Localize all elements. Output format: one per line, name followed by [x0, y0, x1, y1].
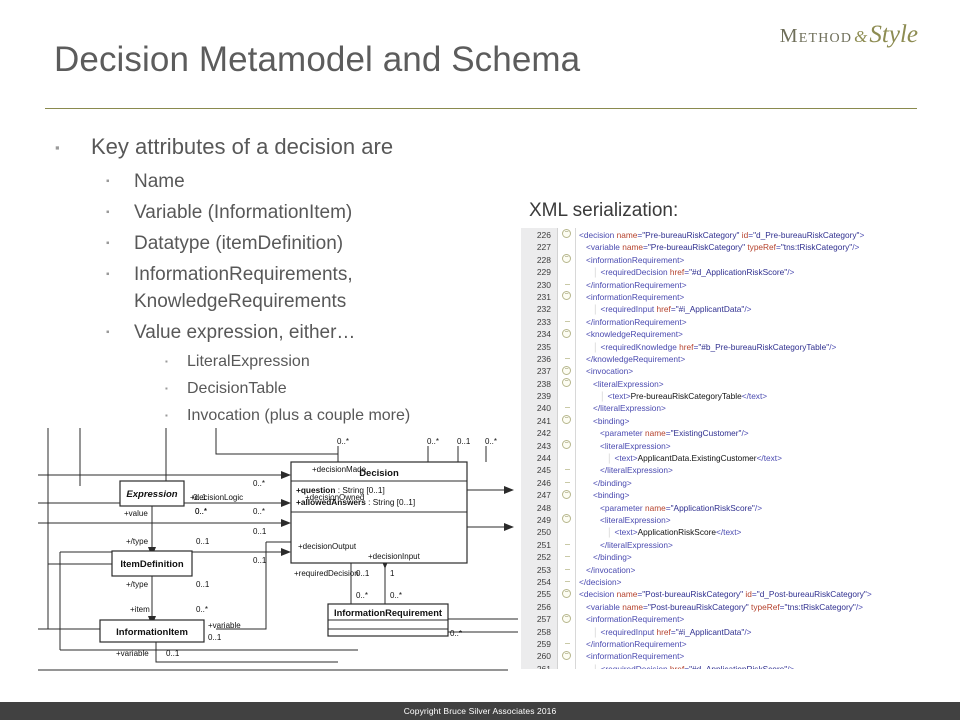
xml-code-text: <literalExpression>	[579, 514, 671, 526]
xml-code-line: 254</decision>	[521, 576, 960, 588]
indent-guide-icon: │	[593, 342, 601, 352]
xml-code-text: │ <requiredDecision href="#d_Application…	[579, 663, 794, 669]
svg-text:+decisionOutput: +decisionOutput	[298, 542, 357, 551]
xml-token-at: name	[622, 242, 643, 252]
xml-token-tg: <requiredDecision	[601, 664, 670, 669]
logo-style-word: Style	[869, 21, 918, 48]
xml-token-tg: <text>	[615, 453, 638, 463]
xml-token-at: href	[670, 267, 684, 277]
svg-text:+decisionOwned: +decisionOwned	[305, 493, 364, 502]
xml-code-line: 240</literalExpression>	[521, 402, 960, 414]
xml-code-text: │ <text>ApplicantData.ExistingCustomer</…	[579, 452, 782, 464]
xml-token-tg: </text>	[742, 391, 767, 401]
xml-code-line: 226−<decision name="Pre-bureauRiskCatego…	[521, 229, 960, 241]
xml-code-line: 241−<binding>	[521, 415, 960, 427]
bullet-marker-icon: ▪	[106, 199, 134, 218]
xml-editor-panel: 226−<decision name="Pre-bureauRiskCatego…	[521, 228, 960, 669]
xml-code-text: </literalExpression>	[579, 402, 666, 414]
xml-code-text: │ <requiredInput href="#i_ApplicantData"…	[579, 303, 751, 315]
bullet-marker-icon: ▪	[55, 132, 91, 154]
code-fold-collapse-icon[interactable]: −	[561, 254, 572, 266]
line-number: 238	[521, 378, 551, 390]
xml-code-line: 236</knowledgeRequirement>	[521, 353, 960, 365]
xml-token-tg: <parameter	[600, 503, 645, 513]
xml-token-av: "Pre-bureauRiskCategory"	[642, 230, 739, 240]
xml-token-tg: <text>	[608, 391, 631, 401]
xml-token-tg: <literalExpression>	[600, 441, 671, 451]
xml-token-tg: <parameter	[600, 428, 645, 438]
xml-code-text: <knowledgeRequirement>	[579, 328, 683, 340]
xml-token-tg: />	[829, 342, 836, 352]
svg-text:0..1: 0..1	[196, 580, 210, 589]
xml-token-tg: />	[744, 304, 751, 314]
bullet-marker-icon: ▪	[165, 350, 187, 366]
xml-token-tg: <knowledgeRequirement>	[586, 329, 683, 339]
xml-code-line: 234−<knowledgeRequirement>	[521, 328, 960, 340]
xml-token-tg: <binding>	[593, 490, 629, 500]
bullet-item: ▪InformationRequirements, KnowledgeRequi…	[55, 261, 525, 315]
xml-code-text: <binding>	[579, 415, 629, 427]
xml-code-text: </knowledgeRequirement>	[579, 353, 685, 365]
xml-token-tg: <informationRequirement>	[586, 614, 684, 624]
bullet-text: InformationRequirements, KnowledgeRequir…	[134, 261, 525, 315]
uml-svg: Expression ItemDefinition InformationIte…	[38, 424, 533, 676]
svg-text:+variable: +variable	[116, 649, 149, 658]
xml-code-line: 247−<binding>	[521, 489, 960, 501]
code-fold-collapse-icon[interactable]: −	[561, 365, 572, 377]
xml-token-tg: <decision	[579, 589, 617, 599]
xml-token-tg: <requiredInput	[601, 304, 657, 314]
xml-code-text: <parameter name="ApplicationRiskScore"/>	[579, 502, 762, 514]
xml-token-av: "#d_ApplicationRiskScore"	[689, 664, 787, 669]
svg-text:0..1: 0..1	[253, 556, 267, 565]
svg-text:0..1: 0..1	[253, 527, 267, 536]
xml-token-tg: <literalExpression>	[600, 515, 671, 525]
xml-token-tg: />	[744, 627, 751, 637]
xml-token-tg: <informationRequirement>	[586, 255, 684, 265]
line-number: 237	[521, 365, 551, 377]
xml-code-text: <variable name="Pre-bureauRiskCategory" …	[579, 241, 859, 253]
xml-token-at: name	[645, 503, 666, 513]
xml-token-at: typeRef	[747, 242, 776, 252]
title-divider	[45, 108, 917, 109]
xml-token-tg: >	[867, 589, 872, 599]
xml-code-text: </binding>	[579, 477, 632, 489]
xml-token-at: name	[617, 230, 638, 240]
xml-token-tg: />	[856, 602, 863, 612]
xml-code-text: <decision name="Pre-bureauRiskCategory" …	[579, 229, 864, 241]
xml-token-tg: <variable	[586, 242, 622, 252]
svg-text:+requiredDecision: +requiredDecision	[294, 569, 359, 578]
bullet-item: ▪Key attributes of a decision are	[55, 132, 525, 162]
xml-token-tg: <informationRequirement>	[586, 651, 684, 661]
svg-text:0..1: 0..1	[193, 493, 207, 502]
xml-token-av: "Post-bureauRiskCategory"	[648, 602, 749, 612]
xml-code-line: 259</informationRequirement>	[521, 638, 960, 650]
xml-token-tg: <variable	[586, 602, 622, 612]
bullet-marker-icon: ▪	[165, 377, 187, 393]
xml-code-line: 232│ <requiredInput href="#i_ApplicantDa…	[521, 303, 960, 315]
xml-token-av: "tns:tRiskCategory"	[781, 242, 852, 252]
svg-text:0..*: 0..*	[450, 629, 462, 638]
xml-token-at: href	[657, 304, 671, 314]
line-number: 239	[521, 390, 551, 402]
svg-text:0..1: 0..1	[356, 569, 370, 578]
svg-text:+/type: +/type	[126, 537, 149, 546]
xml-token-at: typeRef	[751, 602, 780, 612]
xml-token-av: "Pre-bureauRiskCategory"	[648, 242, 745, 252]
svg-text:0..1: 0..1	[208, 633, 222, 642]
xml-code-text: <informationRequirement>	[579, 291, 684, 303]
xml-token-av: "Post-bureauRiskCategory"	[642, 589, 743, 599]
line-number: 236	[521, 353, 551, 365]
xml-token-av: "ApplicationRiskScore"	[671, 503, 755, 513]
xml-token-tg: </informationRequirement>	[586, 317, 687, 327]
xml-token-tg: </binding>	[593, 552, 632, 562]
bullet-item: ▪LiteralExpression	[55, 350, 525, 374]
bullet-item: ▪DecisionTable	[55, 377, 525, 401]
bullet-marker-icon: ▪	[106, 261, 134, 280]
xml-code-line: 261│ <requiredDecision href="#d_Applicat…	[521, 663, 960, 669]
xml-code-text: │ <text>Pre-bureauRiskCategoryTable</tex…	[579, 390, 767, 402]
xml-code-text: </invocation>	[579, 564, 635, 576]
indent-guide-icon: │	[593, 627, 601, 637]
page-title: Decision Metamodel and Schema	[54, 40, 580, 80]
code-fold-collapse-icon[interactable]: −	[561, 291, 572, 303]
line-number: 235	[521, 341, 551, 353]
xml-token-av: "ExistingCustomer"	[671, 428, 742, 438]
bullet-text: DecisionTable	[187, 377, 287, 401]
xml-token-av: "tns:tRiskCategory"	[785, 602, 856, 612]
svg-text:0..1: 0..1	[166, 649, 180, 658]
svg-text:0..*: 0..*	[253, 507, 265, 516]
code-fold-collapse-icon[interactable]: −	[561, 489, 572, 501]
xml-code-line: 238−<literalExpression>	[521, 378, 960, 390]
xml-code-line: 239│ <text>Pre-bureauRiskCategoryTable</…	[521, 390, 960, 402]
svg-text:0..*: 0..*	[427, 437, 439, 446]
xml-token-tg: <literalExpression>	[593, 379, 664, 389]
xml-code-text: │ <requiredInput href="#i_ApplicantData"…	[579, 626, 751, 638]
xml-code-line: 246</binding>	[521, 477, 960, 489]
xml-code-line: 235│ <requiredKnowledge href="#b_Pre-bur…	[521, 341, 960, 353]
xml-token-tg: />	[787, 267, 794, 277]
line-number: 227	[521, 241, 551, 253]
svg-text:InformationRequirement: InformationRequirement	[334, 608, 442, 618]
uml-class-itemdefinition: ItemDefinition	[112, 551, 192, 576]
xml-code-text: <invocation>	[579, 365, 633, 377]
xml-token-tg: />	[742, 428, 749, 438]
xml-code-line: 245</literalExpression>	[521, 464, 960, 476]
xml-token-av: "#b_Pre-bureauRiskCategoryTable"	[698, 342, 829, 352]
xml-code-line: 244│ <text>ApplicantData.ExistingCustome…	[521, 452, 960, 464]
line-number: 228	[521, 254, 551, 266]
xml-code-line: 227<variable name="Pre-bureauRiskCategor…	[521, 241, 960, 253]
logo-method-word: Method	[780, 25, 852, 47]
bullet-marker-icon: ▪	[106, 230, 134, 249]
line-number: 233	[521, 316, 551, 328]
indent-guide-icon: │	[593, 267, 601, 277]
uml-metamodel-diagram: Expression ItemDefinition InformationIte…	[38, 424, 533, 676]
xml-token-at: name	[617, 589, 638, 599]
svg-text:0..*: 0..*	[253, 479, 265, 488]
svg-text:0..*: 0..*	[485, 437, 497, 446]
xml-token-tx: ApplicationRiskScore	[638, 527, 716, 537]
svg-text:0..*: 0..*	[196, 605, 208, 614]
xml-token-tg: </binding>	[593, 478, 632, 488]
xml-token-tg: <binding>	[593, 416, 629, 426]
code-fold-collapse-icon[interactable]: −	[561, 229, 572, 241]
xml-code-text: │ <requiredDecision href="#d_Application…	[579, 266, 794, 278]
xml-token-at: href	[657, 627, 671, 637]
xml-code-text: </decision>	[579, 576, 621, 588]
xml-token-tg: </informationRequirement>	[586, 639, 687, 649]
xml-code-text: </literalExpression>	[579, 464, 673, 476]
xml-token-tg: <informationRequirement>	[586, 292, 684, 302]
bullet-text: LiteralExpression	[187, 350, 310, 374]
slide-canvas: Method&Style Decision Metamodel and Sche…	[0, 0, 960, 720]
bullet-marker-icon: ▪	[165, 404, 187, 420]
code-fold-collapse-icon[interactable]: −	[561, 440, 572, 452]
xml-code-line: 230</informationRequirement>	[521, 279, 960, 291]
line-number: 232	[521, 303, 551, 315]
line-number: 240	[521, 402, 551, 414]
code-fold-collapse-icon[interactable]: −	[561, 514, 572, 526]
xml-code-line: 249−<literalExpression>	[521, 514, 960, 526]
uml-class-informationrequirement: InformationRequirement	[328, 604, 448, 636]
xml-code-text: <informationRequirement>	[579, 254, 684, 266]
xml-code-text: </informationRequirement>	[579, 279, 687, 291]
xml-token-at: href	[670, 664, 684, 669]
svg-text:1: 1	[390, 569, 395, 578]
xml-code-line: 229│ <requiredDecision href="#d_Applicat…	[521, 266, 960, 278]
xml-code-line: 253</invocation>	[521, 564, 960, 576]
xml-code-text: <binding>	[579, 489, 629, 501]
xml-token-at: name	[622, 602, 643, 612]
xml-serialization-caption: XML serialization:	[529, 200, 678, 222]
xml-token-av: "#i_ApplicantData"	[676, 304, 745, 314]
svg-text:+item: +item	[130, 605, 150, 614]
svg-text:Expression: Expression	[126, 489, 177, 500]
bullet-list: ▪Key attributes of a decision are▪Name▪V…	[55, 132, 525, 431]
xml-token-tg: >	[860, 230, 865, 240]
xml-code-text: </binding>	[579, 551, 632, 563]
xml-code-text: <decision name="Post-bureauRiskCategory"…	[579, 588, 872, 600]
xml-code-line: 258│ <requiredInput href="#i_ApplicantDa…	[521, 626, 960, 638]
logo-ampersand: &	[852, 27, 869, 46]
xml-code-line: 251</literalExpression>	[521, 539, 960, 551]
bullet-marker-icon: ▪	[106, 168, 134, 187]
xml-code-text: │ <text>ApplicationRiskScore</text>	[579, 526, 741, 538]
line-number: 234	[521, 328, 551, 340]
bullet-item: ▪Variable (InformationItem)	[55, 199, 525, 226]
indent-guide-icon: │	[593, 664, 601, 669]
bullet-text: Key attributes of a decision are	[91, 132, 393, 162]
xml-token-tg: <decision	[579, 230, 617, 240]
method-and-style-logo: Method&Style	[780, 22, 918, 47]
xml-code-text: <parameter name="ExistingCustomer"/>	[579, 427, 749, 439]
line-number: 226	[521, 229, 551, 241]
xml-code-text: </informationRequirement>	[579, 638, 687, 650]
svg-text:0..*: 0..*	[390, 591, 402, 600]
code-fold-collapse-icon[interactable]: −	[561, 328, 572, 340]
xml-token-tg: <invocation>	[586, 366, 633, 376]
uml-class-informationitem: InformationItem	[100, 620, 204, 642]
code-fold-collapse-icon[interactable]: −	[561, 378, 572, 390]
xml-code-text: </literalExpression>	[579, 539, 673, 551]
xml-token-tg: </knowledgeRequirement>	[586, 354, 685, 364]
svg-text:0..1: 0..1	[457, 437, 471, 446]
xml-code-text: <informationRequirement>	[579, 613, 684, 625]
indent-guide-icon: │	[600, 391, 608, 401]
xml-code-line: 231−<informationRequirement>	[521, 291, 960, 303]
svg-text:+decisionMade: +decisionMade	[312, 465, 367, 474]
xml-code-line: 257−<informationRequirement>	[521, 613, 960, 625]
xml-token-tg: </text>	[716, 527, 741, 537]
xml-token-tg: <requiredDecision	[601, 267, 670, 277]
code-fold-collapse-icon[interactable]: −	[561, 588, 572, 600]
xml-token-tg: </decision>	[579, 577, 621, 587]
bullet-item: ▪Value expression, either…	[55, 319, 525, 346]
xml-code-lines: 226−<decision name="Pre-bureauRiskCatego…	[521, 229, 960, 669]
xml-token-tg: </invocation>	[586, 565, 635, 575]
xml-code-line: 252</binding>	[521, 551, 960, 563]
code-fold-collapse-icon[interactable]: −	[561, 613, 572, 625]
xml-code-text: <variable name="Post-bureauRiskCategory"…	[579, 601, 863, 613]
xml-code-line: 256<variable name="Post-bureauRiskCatego…	[521, 601, 960, 613]
line-number: 230	[521, 279, 551, 291]
xml-code-line: 237−<invocation>	[521, 365, 960, 377]
line-number: 229	[521, 266, 551, 278]
xml-token-at: name	[645, 428, 666, 438]
xml-token-tg: />	[852, 242, 859, 252]
xml-token-tg: <text>	[615, 527, 638, 537]
bullet-item: ▪Name	[55, 168, 525, 195]
svg-text:0..*: 0..*	[195, 507, 207, 516]
xml-token-av: "d_Post-bureauRiskCategory"	[757, 589, 867, 599]
footer-bar: Copyright Bruce Silver Associates 2016	[0, 702, 960, 720]
bullet-text: Name	[134, 168, 185, 195]
svg-text:+variable: +variable	[208, 621, 241, 630]
xml-code-text: <literalExpression>	[579, 378, 664, 390]
xml-token-tg: />	[755, 503, 762, 513]
copyright-text: Copyright Bruce Silver Associates 2016	[0, 702, 960, 720]
xml-code-line: 260−<informationRequirement>	[521, 650, 960, 662]
xml-code-line: 242<parameter name="ExistingCustomer"/>	[521, 427, 960, 439]
xml-token-tg: </informationRequirement>	[586, 280, 687, 290]
indent-guide-icon: │	[593, 304, 601, 314]
xml-token-tx: ApplicantData.ExistingCustomer	[638, 453, 757, 463]
xml-token-tg: </text>	[757, 453, 782, 463]
xml-code-text: <literalExpression>	[579, 440, 671, 452]
xml-code-line: 250│ <text>ApplicationRiskScore</text>	[521, 526, 960, 538]
xml-token-at: href	[679, 342, 693, 352]
svg-text:ItemDefinition: ItemDefinition	[120, 559, 184, 570]
bullet-item: ▪Datatype (itemDefinition)	[55, 230, 525, 257]
xml-token-av: "#d_ApplicationRiskScore"	[689, 267, 787, 277]
code-fold-collapse-icon[interactable]: −	[561, 650, 572, 662]
xml-token-tg: <requiredKnowledge	[601, 342, 680, 352]
xml-token-tg: />	[787, 664, 794, 669]
xml-token-tg: <requiredInput	[601, 627, 657, 637]
uml-class-expression: Expression	[120, 481, 184, 506]
bullet-text: Datatype (itemDefinition)	[134, 230, 343, 257]
xml-code-line: 228−<informationRequirement>	[521, 254, 960, 266]
svg-text:+decisionInput: +decisionInput	[368, 552, 421, 561]
xml-code-text: │ <requiredKnowledge href="#b_Pre-bureau…	[579, 341, 836, 353]
xml-code-line: 248<parameter name="ApplicationRiskScore…	[521, 502, 960, 514]
bullet-marker-icon: ▪	[106, 319, 134, 338]
indent-guide-icon: │	[607, 527, 615, 537]
bullet-text: Variable (InformationItem)	[134, 199, 352, 226]
svg-text:0..1: 0..1	[196, 537, 210, 546]
bullet-text: Value expression, either…	[134, 319, 355, 346]
svg-text:InformationItem: InformationItem	[116, 627, 188, 638]
svg-text:0..*: 0..*	[356, 591, 368, 600]
xml-code-line: 243−<literalExpression>	[521, 440, 960, 452]
xml-code-text: <informationRequirement>	[579, 650, 684, 662]
xml-token-av: "#i_ApplicantData"	[676, 627, 745, 637]
xml-token-av: "d_Pre-bureauRiskCategory"	[753, 230, 859, 240]
xml-code-line: 233</informationRequirement>	[521, 316, 960, 328]
xml-code-text: </informationRequirement>	[579, 316, 687, 328]
indent-guide-icon: │	[607, 453, 615, 463]
xml-token-tg: </literalExpression>	[600, 465, 673, 475]
svg-text:+value: +value	[124, 509, 148, 518]
svg-text:+/type: +/type	[126, 580, 149, 589]
xml-token-tx: Pre-bureauRiskCategoryTable	[631, 391, 742, 401]
xml-code-line: 255−<decision name="Post-bureauRiskCateg…	[521, 588, 960, 600]
code-fold-collapse-icon[interactable]: −	[561, 415, 572, 427]
svg-text:0..*: 0..*	[337, 437, 349, 446]
xml-token-tg: </literalExpression>	[600, 540, 673, 550]
line-number: 231	[521, 291, 551, 303]
xml-token-tg: </literalExpression>	[593, 403, 666, 413]
